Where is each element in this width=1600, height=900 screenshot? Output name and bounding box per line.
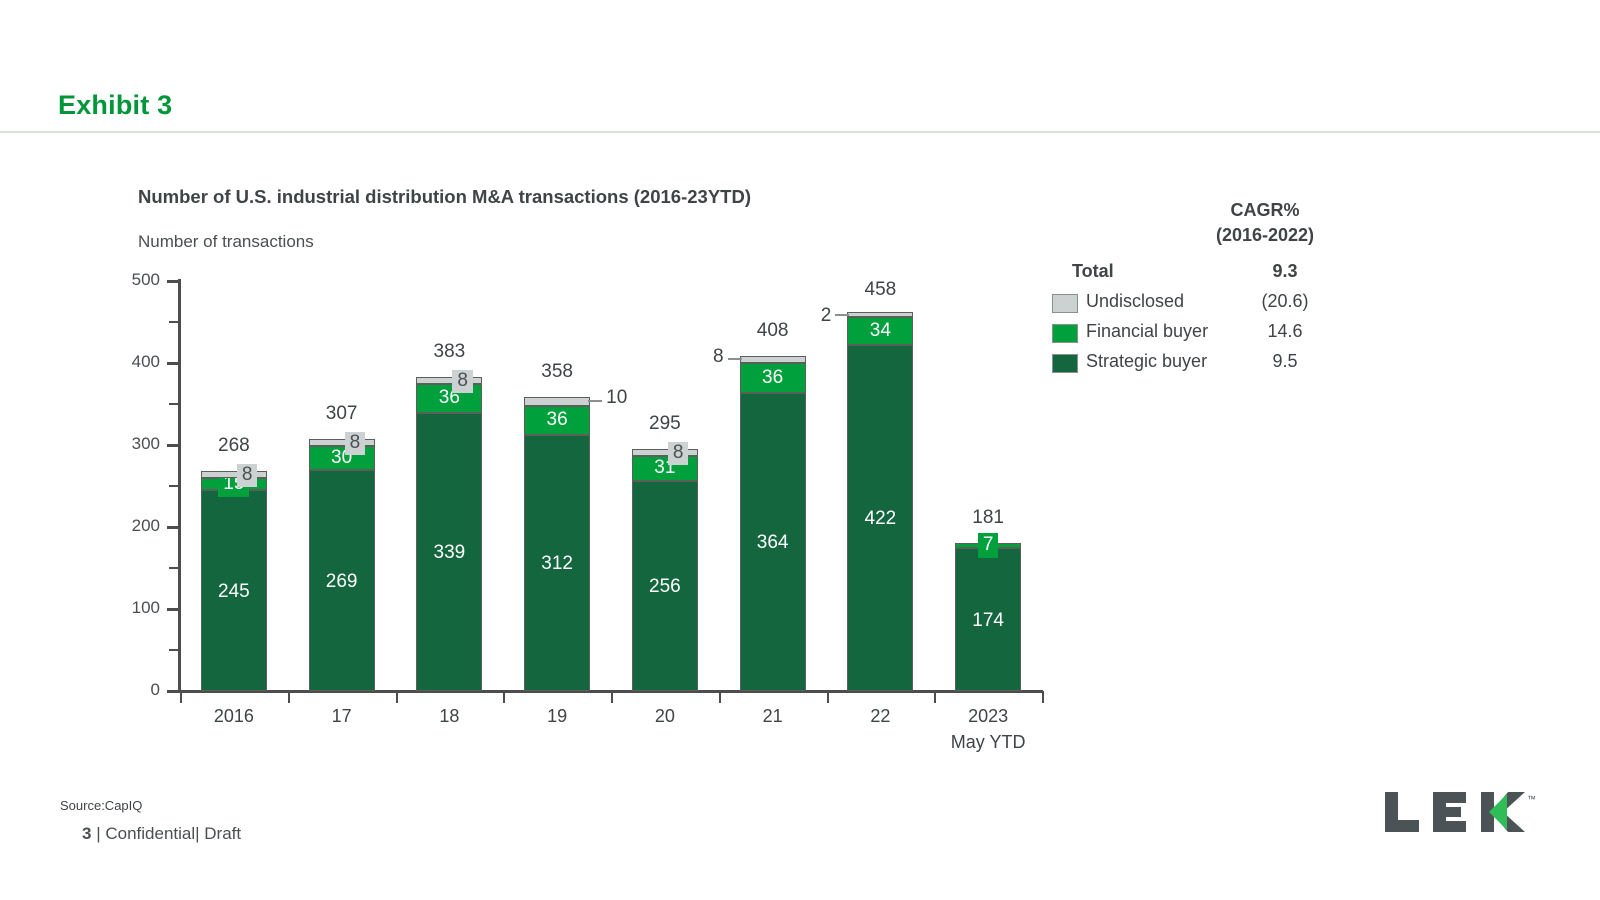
bar-22[interactable]: 422342 [847,315,913,691]
bar-value-strategic: 245 [202,582,266,601]
x-axis-label-2023: 2023 [928,706,1048,727]
bar-total-22: 458 [810,279,950,301]
legend-label: Financial buyer [1086,321,1208,342]
x-tick-4 [611,691,613,703]
bar-segment-undisclosed[interactable] [847,312,913,317]
legend-row-strategic-buyer[interactable]: Strategic buyer9.5 [1022,350,1352,380]
lek-logo: ™ [1385,788,1535,844]
x-axis-label-20: 20 [605,706,725,727]
bar-total-20: 295 [595,413,735,435]
x-tick-0 [180,691,182,703]
footer-text: 3 | Confidential| Draft [82,824,241,844]
bar-value-undisclosed: 8 [668,442,689,465]
bar-value-strategic: 174 [956,611,1020,630]
legend-swatch-icon [1052,354,1078,373]
y-tick-150 [169,567,178,569]
page-number: 3 [82,824,91,843]
bar-value-strategic: 364 [741,533,805,552]
y-axis-label-500: 500 [100,270,160,290]
bar-value-strategic: 269 [310,572,374,591]
x-axis-label-21: 21 [713,706,833,727]
bar-segment-strategic[interactable]: 312 [524,435,590,691]
y-tick-50 [169,649,178,651]
bar-value-undisclosed: 8 [345,432,366,455]
x-axis-sublabel-2023: May YTD [928,732,1048,753]
leader-line [728,358,742,360]
x-axis-label-22: 22 [820,706,940,727]
x-tick-2 [396,691,398,703]
bar-total-17: 307 [272,403,412,425]
x-tick-3 [503,691,505,703]
bar-value-financial: 36 [740,368,806,387]
header-divider [0,131,1600,133]
y-axis-label-100: 100 [100,598,160,618]
page-title: Exhibit 3 [58,90,172,121]
legend-cagr-value: (20.6) [1240,291,1330,312]
legend-label: Total [1072,261,1114,282]
x-tick-8 [1042,691,1044,703]
svg-text:™: ™ [1527,794,1535,804]
legend-cagr-value: 9.3 [1240,261,1330,282]
legend-cagr-value: 14.6 [1240,321,1330,342]
bar-value-undisclosed: 8 [713,346,724,368]
bar-total-18: 383 [379,341,519,363]
x-tick-1 [288,691,290,703]
cagr-heading: CAGR% (2016-2022) [1150,198,1380,248]
bar-segment-undisclosed[interactable] [524,397,590,405]
y-tick-0 [167,690,178,693]
x-axis-label-19: 19 [497,706,617,727]
bar-value-financial: 7 [955,535,1021,554]
bar-value-chip-financial: 7 [978,533,999,558]
x-tick-5 [719,691,721,703]
bar-20[interactable]: 256318 [632,449,698,691]
bar-total-19: 358 [487,361,627,383]
bar-value-strategic: 422 [848,509,912,528]
cagr-heading-line1: CAGR% [1150,198,1380,223]
bar-21[interactable]: 364368 [740,356,806,691]
legend-swatch-icon [1052,324,1078,343]
y-axis-label-400: 400 [100,352,160,372]
bar-value-undisclosed: 8 [237,464,258,487]
bar-value-strategic: 339 [417,543,481,562]
legend-swatch-icon [1052,294,1078,313]
y-axis-label-200: 200 [100,516,160,536]
chart-legend: Total9.3Undisclosed(20.6)Financial buyer… [1022,260,1352,380]
chart-axis-unit-label: Number of transactions [138,232,314,252]
legend-label: Strategic buyer [1086,351,1207,372]
y-tick-450 [169,321,178,323]
bar-segment-strategic[interactable]: 364 [740,393,806,691]
y-tick-400 [167,362,178,365]
y-tick-100 [167,608,178,611]
x-axis-label-17: 17 [282,706,402,727]
bar-segment-undisclosed[interactable] [740,356,806,363]
legend-row-undisclosed[interactable]: Undisclosed(20.6) [1022,290,1352,320]
bar-2016[interactable]: 245158 [201,471,267,691]
leader-line [835,314,849,316]
legend-row-total[interactable]: Total9.3 [1022,260,1352,290]
bar-18[interactable]: 339368 [416,377,482,691]
bar-value-undisclosed: 10 [606,387,627,409]
leader-line [588,400,602,402]
cagr-heading-line2: (2016-2022) [1150,223,1380,248]
y-tick-250 [169,485,178,487]
bar-segment-strategic[interactable]: 245 [201,490,267,691]
bar-value-undisclosed: 2 [821,305,832,327]
source-note: Source:CapIQ [60,798,142,813]
bar-value-strategic: 312 [525,554,589,573]
bar-value-financial: 34 [847,321,913,340]
chart-plot-area: 2451582682693083073393683833123610358256… [178,281,1040,691]
x-axis-label-2016: 2016 [174,706,294,727]
bar-segment-strategic[interactable]: 174 [955,548,1021,691]
confidentiality-note: | Confidential| Draft [96,824,241,843]
bar-value-strategic: 256 [633,577,697,596]
legend-label: Undisclosed [1086,291,1184,312]
bar-value-financial: 36 [524,410,590,429]
bar-19[interactable]: 3123610 [524,397,590,691]
y-tick-500 [167,280,178,283]
bar-total-2023: 181 [918,507,1058,529]
y-tick-350 [169,403,178,405]
bar-value-undisclosed: 8 [452,370,473,393]
bar-segment-strategic[interactable]: 269 [309,470,375,691]
x-axis-label-18: 18 [389,706,509,727]
y-axis-label-0: 0 [100,680,160,700]
legend-row-financial-buyer[interactable]: Financial buyer14.6 [1022,320,1352,350]
bar-segment-strategic[interactable]: 339 [416,413,482,691]
bar-17[interactable]: 269308 [309,439,375,691]
y-axis-label-300: 300 [100,434,160,454]
legend-cagr-value: 9.5 [1240,351,1330,372]
y-tick-200 [167,526,178,529]
bar-2023[interactable]: 1747 [955,543,1021,691]
bar-total-2016: 268 [164,435,304,457]
bar-segment-strategic[interactable]: 256 [632,481,698,691]
x-tick-7 [934,691,936,703]
chart-title: Number of U.S. industrial distribution M… [138,185,898,208]
x-tick-6 [827,691,829,703]
bar-segment-strategic[interactable]: 422 [847,345,913,691]
